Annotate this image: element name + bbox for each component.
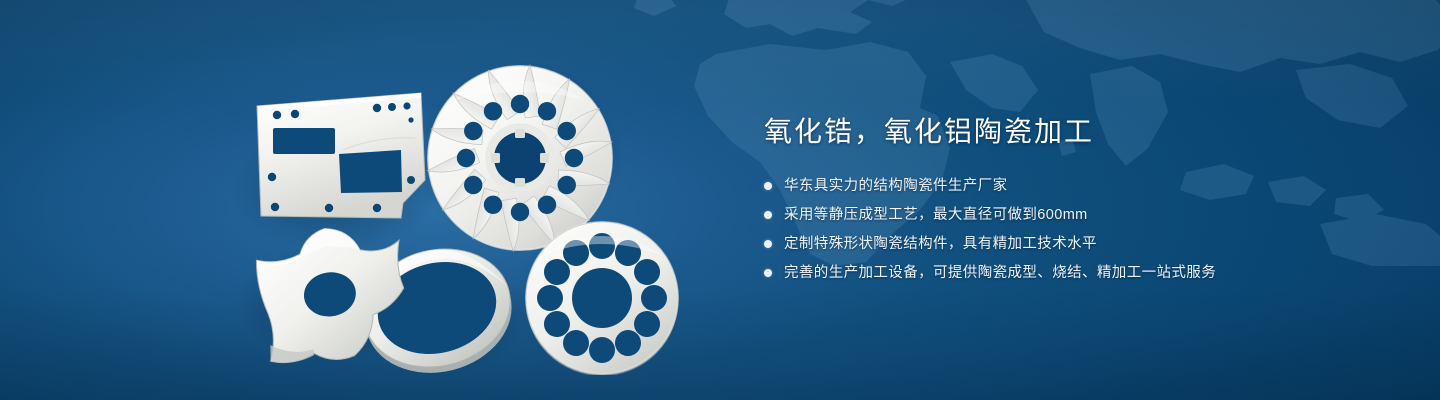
feature-text: 完善的生产加工设备，可提供陶瓷成型、烧结、精加工一站式服务: [784, 263, 1216, 283]
ceramic-plate-part: [257, 93, 425, 218]
list-item: 采用等静压成型工艺，最大直径可做到600mm: [764, 203, 1384, 226]
page-title: 氧化锆，氧化铝陶瓷加工: [764, 112, 1384, 152]
feature-text: 定制特殊形状陶瓷结构件，具有精加工技术水平: [784, 234, 1097, 254]
list-item: 定制特殊形状陶瓷结构件，具有精加工技术水平: [764, 232, 1384, 255]
list-item: 华东具实力的结构陶瓷件生产厂家: [764, 174, 1384, 197]
feature-text: 华东具实力的结构陶瓷件生产厂家: [784, 176, 1008, 196]
bullet-dot-icon: [764, 240, 772, 248]
bullet-dot-icon: [764, 211, 772, 219]
ceramic-products-photo: [225, 40, 725, 375]
ceramic-retainer-plate-part: [526, 222, 678, 375]
banner-copy: 氧化锆，氧化铝陶瓷加工 华东具实力的结构陶瓷件生产厂家 采用等静压成型工艺，最大…: [764, 112, 1384, 290]
feature-text: 采用等静压成型工艺，最大直径可做到600mm: [784, 205, 1088, 225]
list-item: 完善的生产加工设备，可提供陶瓷成型、烧结、精加工一站式服务: [764, 261, 1384, 284]
hero-banner: 氧化锆，氧化铝陶瓷加工 华东具实力的结构陶瓷件生产厂家 采用等静压成型工艺，最大…: [0, 0, 1440, 400]
bullet-dot-icon: [764, 182, 772, 190]
feature-list: 华东具实力的结构陶瓷件生产厂家 采用等静压成型工艺，最大直径可做到600mm 定…: [764, 174, 1384, 284]
bullet-dot-icon: [764, 269, 772, 277]
